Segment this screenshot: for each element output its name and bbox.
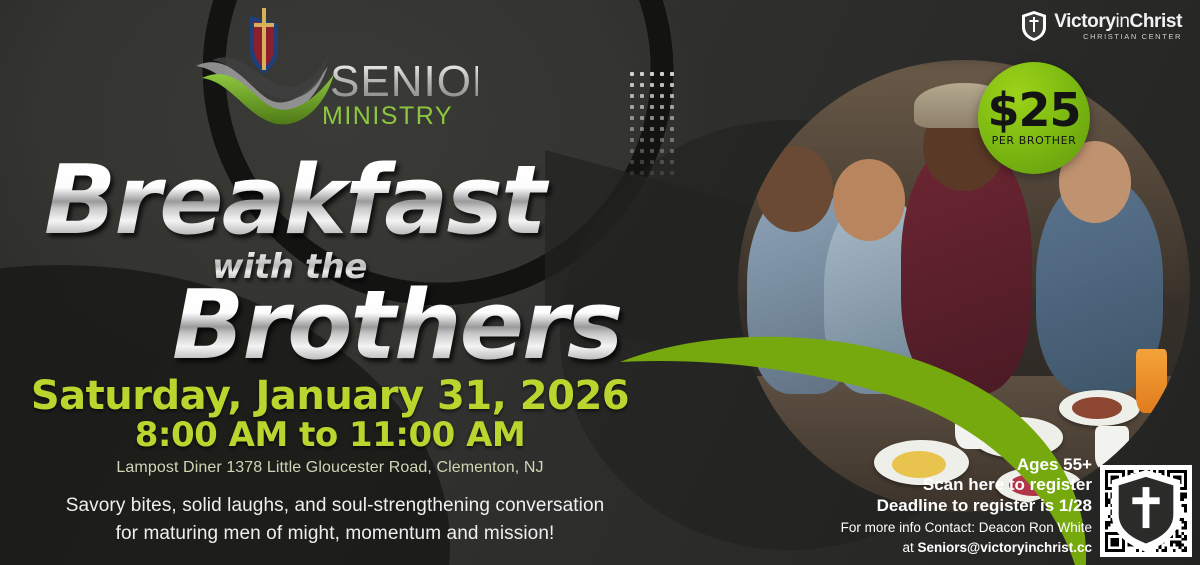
event-details: Saturday, January 31, 2026 8:00 AM to 11… xyxy=(0,376,660,477)
price-badge: $25 PER BROTHER xyxy=(978,62,1090,174)
ministry-shield-icon xyxy=(250,8,278,74)
headline-line-3: Brothers xyxy=(172,283,664,370)
qr-shield-icon xyxy=(1105,470,1187,552)
badge-price: $25 xyxy=(987,89,1080,131)
brothers-photo xyxy=(738,60,1190,512)
registration-contact: For more info Contact: Deacon Ron White xyxy=(841,519,1092,537)
registration-email[interactable]: Seniors@victoryinchrist.cc xyxy=(918,540,1092,555)
email-prefix: at xyxy=(903,540,918,555)
event-date: Saturday, January 31, 2026 xyxy=(0,376,660,417)
tagline: Savory bites, solid laughs, and soul-str… xyxy=(0,492,670,547)
headline-line-1: Breakfast xyxy=(44,158,664,245)
qr-code[interactable] xyxy=(1100,465,1192,557)
church-name: VictoryinChrist xyxy=(1054,12,1182,31)
registration-email-line: at Seniors@victoryinchrist.cc xyxy=(841,539,1092,557)
senior-ministry-logo: SENIOR MINISTRY xyxy=(178,4,478,154)
registration-info: Ages 55+ Scan here to register Deadline … xyxy=(841,455,1092,557)
event-time: 8:00 AM to 11:00 AM xyxy=(0,417,660,454)
badge-sublabel: PER BROTHER xyxy=(992,134,1077,147)
registration-scan: Scan here to register xyxy=(841,475,1092,495)
ministry-secondary-text: MINISTRY xyxy=(322,102,453,130)
event-banner: $25 PER BROTHER VictoryinChrist CHRISTIA… xyxy=(0,0,1200,565)
church-logo: VictoryinChrist CHRISTIAN CENTER xyxy=(1021,10,1182,42)
ministry-primary-text: SENIOR xyxy=(330,57,478,106)
registration-ages: Ages 55+ xyxy=(841,455,1092,475)
church-subtitle: CHRISTIAN CENTER xyxy=(1054,33,1182,41)
event-venue: Lampost Diner 1378 Little Gloucester Roa… xyxy=(0,459,660,477)
headline: Breakfast with the Brothers xyxy=(44,158,664,371)
shield-icon xyxy=(1021,10,1047,42)
tagline-line-2: for maturing men of might, momentum and … xyxy=(0,520,670,548)
registration-deadline: Deadline to register is 1/28 xyxy=(841,496,1092,516)
tagline-line-1: Savory bites, solid laughs, and soul-str… xyxy=(0,492,670,520)
